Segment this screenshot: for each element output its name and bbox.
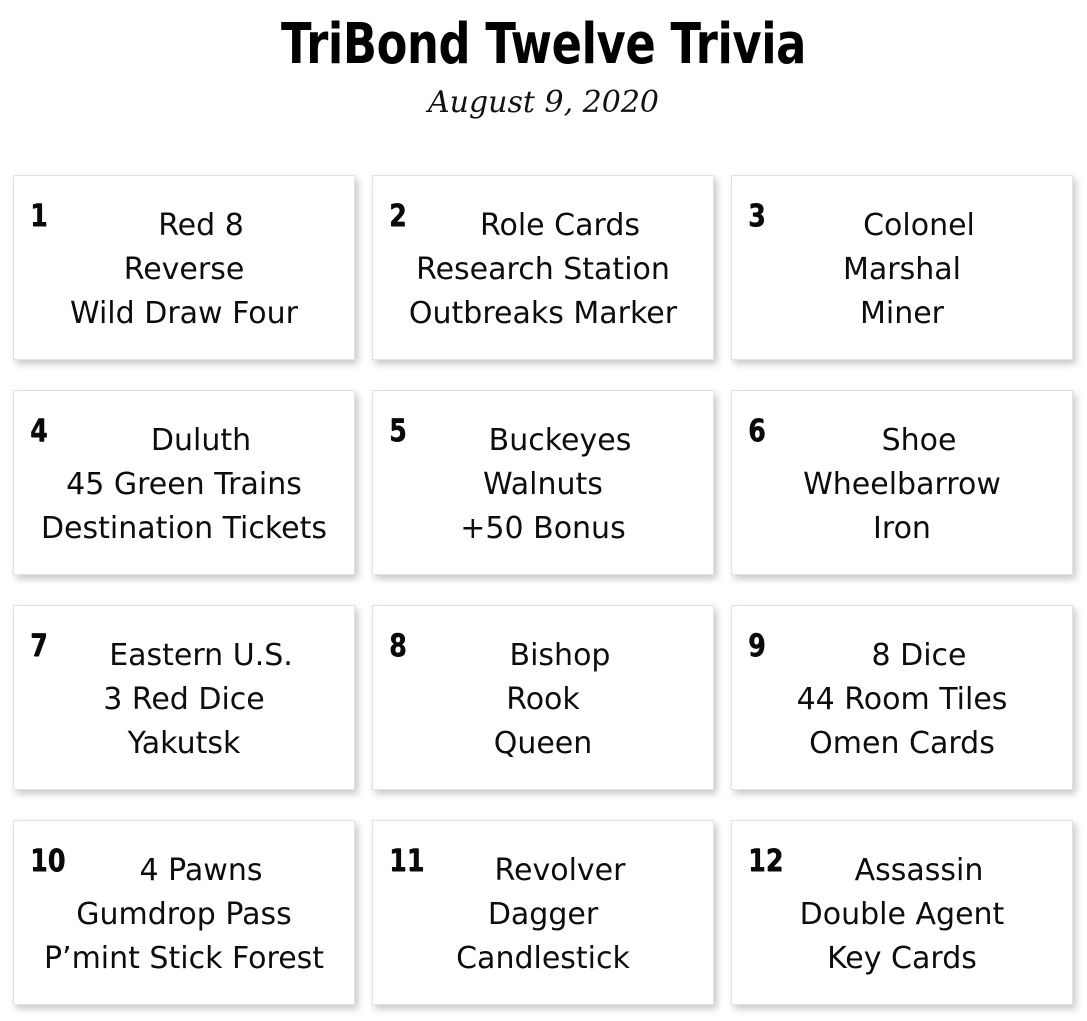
- card-clue-line: Double Agent: [742, 893, 1062, 937]
- card-clue-line: Omen Cards: [742, 722, 1062, 766]
- trivia-card: 5BuckeyesWalnuts+50 Bonus: [372, 390, 714, 575]
- card-clue-line: Miner: [742, 292, 1062, 336]
- card-clue-list: Duluth45 Green TrainsDestination Tickets: [24, 419, 344, 551]
- trivia-card: 2Role CardsResearch StationOutbreaks Mar…: [372, 175, 714, 360]
- card-clue-list: BishopRookQueen: [383, 634, 703, 766]
- card-clue-line: Shoe: [742, 419, 1062, 463]
- page-date: August 9, 2020: [0, 85, 1087, 120]
- card-clue-line: Outbreaks Marker: [383, 292, 703, 336]
- card-clue-line: Reverse: [24, 248, 344, 292]
- trivia-card: 8BishopRookQueen: [372, 605, 714, 790]
- card-clue-line: P’mint Stick Forest: [24, 937, 344, 981]
- card-clue-line: Bishop: [383, 634, 703, 678]
- card-clue-line: +50 Bonus: [383, 507, 703, 551]
- page-title: TriBond Twelve Trivia: [109, 16, 979, 73]
- card-clue-list: Red 8ReverseWild Draw Four: [24, 204, 344, 336]
- card-clue-list: RevolverDaggerCandlestick: [383, 849, 703, 981]
- card-clue-line: 8 Dice: [742, 634, 1062, 678]
- trivia-card-grid: 1Red 8ReverseWild Draw Four2Role CardsRe…: [13, 175, 1073, 1005]
- card-clue-list: BuckeyesWalnuts+50 Bonus: [383, 419, 703, 551]
- trivia-card: 6ShoeWheelbarrowIron: [731, 390, 1073, 575]
- card-clue-line: Dagger: [383, 893, 703, 937]
- card-clue-line: Eastern U.S.: [24, 634, 344, 678]
- trivia-card: 7Eastern U.S.3 Red DiceYakutsk: [13, 605, 355, 790]
- card-clue-line: Destination Tickets: [24, 507, 344, 551]
- card-clue-list: 8 Dice44 Room TilesOmen Cards: [742, 634, 1062, 766]
- trivia-card: 1Red 8ReverseWild Draw Four: [13, 175, 355, 360]
- card-clue-line: Wild Draw Four: [24, 292, 344, 336]
- trivia-page: TriBond Twelve Trivia August 9, 2020 1Re…: [0, 0, 1087, 1021]
- card-clue-list: ColonelMarshalMiner: [742, 204, 1062, 336]
- card-clue-list: ShoeWheelbarrowIron: [742, 419, 1062, 551]
- card-clue-line: 45 Green Trains: [24, 463, 344, 507]
- card-clue-line: Assassin: [742, 849, 1062, 893]
- card-clue-line: Rook: [383, 678, 703, 722]
- card-clue-line: Queen: [383, 722, 703, 766]
- card-clue-line: Walnuts: [383, 463, 703, 507]
- card-clue-line: Revolver: [383, 849, 703, 893]
- trivia-card: 98 Dice44 Room TilesOmen Cards: [731, 605, 1073, 790]
- card-clue-line: Buckeyes: [383, 419, 703, 463]
- card-clue-line: Gumdrop Pass: [24, 893, 344, 937]
- trivia-card: 104 PawnsGumdrop PassP’mint Stick Forest: [13, 820, 355, 1005]
- card-clue-line: Duluth: [24, 419, 344, 463]
- card-clue-list: Eastern U.S.3 Red DiceYakutsk: [24, 634, 344, 766]
- page-header: TriBond Twelve Trivia August 9, 2020: [0, 0, 1087, 120]
- card-clue-line: Marshal: [742, 248, 1062, 292]
- card-clue-line: 3 Red Dice: [24, 678, 344, 722]
- trivia-card: 11RevolverDaggerCandlestick: [372, 820, 714, 1005]
- card-clue-line: 44 Room Tiles: [742, 678, 1062, 722]
- card-clue-line: 4 Pawns: [24, 849, 344, 893]
- card-clue-line: Iron: [742, 507, 1062, 551]
- card-clue-list: Role CardsResearch StationOutbreaks Mark…: [383, 204, 703, 336]
- card-clue-list: 4 PawnsGumdrop PassP’mint Stick Forest: [24, 849, 344, 981]
- trivia-card: 12AssassinDouble AgentKey Cards: [731, 820, 1073, 1005]
- card-clue-list: AssassinDouble AgentKey Cards: [742, 849, 1062, 981]
- card-clue-line: Yakutsk: [24, 722, 344, 766]
- card-clue-line: Key Cards: [742, 937, 1062, 981]
- card-clue-line: Colonel: [742, 204, 1062, 248]
- card-clue-line: Role Cards: [383, 204, 703, 248]
- card-clue-line: Red 8: [24, 204, 344, 248]
- trivia-card: 3ColonelMarshalMiner: [731, 175, 1073, 360]
- card-clue-line: Wheelbarrow: [742, 463, 1062, 507]
- card-clue-line: Research Station: [383, 248, 703, 292]
- card-clue-line: Candlestick: [383, 937, 703, 981]
- trivia-card: 4Duluth45 Green TrainsDestination Ticket…: [13, 390, 355, 575]
